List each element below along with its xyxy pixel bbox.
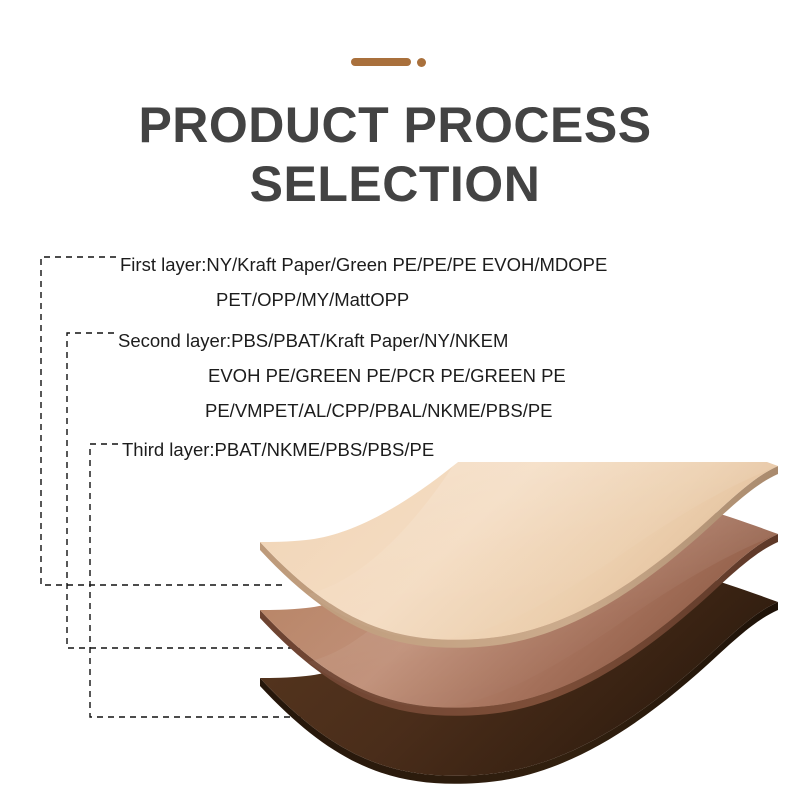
first-layer-spec-line-1: First layer:NY/Kraft Paper/Green PE/PE/P… (120, 248, 607, 283)
header-accent-group (0, 56, 790, 68)
product-process-selection-infographic: PRODUCT PROCESS SELECTION First layer:NY… (0, 0, 790, 811)
page-title-line-1: PRODUCT PROCESS (0, 96, 790, 155)
layer-stack-illustration (248, 462, 790, 811)
second-layer-spec-line-2: EVOH PE/GREEN PE/PCR PE/GREEN PE (208, 359, 566, 394)
accent-bar-icon (351, 58, 411, 66)
page-title: PRODUCT PROCESS SELECTION (0, 96, 790, 214)
first-layer-spec-line-2: PET/OPP/MY/MattOPP (216, 283, 409, 318)
accent-dot-icon (417, 58, 426, 67)
second-layer-spec-line-1: Second layer:PBS/PBAT/Kraft Paper/NY/NKE… (118, 324, 508, 359)
page-title-line-2: SELECTION (0, 155, 790, 214)
second-layer-spec-line-3: PE/VMPET/AL/CPP/PBAL/NKME/PBS/PE (205, 394, 553, 429)
